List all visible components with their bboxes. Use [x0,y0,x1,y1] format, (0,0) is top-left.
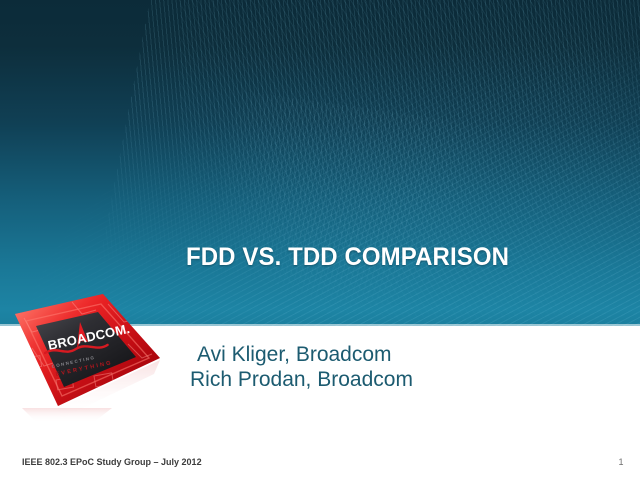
presentation-slide: FDD VS. TDD COMPARISON Avi Kliger, Broad… [0,0,640,480]
moire-sweep-d-decoration [205,90,535,326]
moire-sweep-a-decoration [80,0,640,326]
footer-meeting-label: IEEE 802.3 EPoC Study Group – July 2012 [22,457,202,467]
broadcom-chip-logo: BROADCOM. CONNECTING EVERYTHING [2,288,164,428]
footer-page-number: 1 [612,457,630,467]
slide-subtitle: Avi Kliger, Broadcom Rich Prodan, Broadc… [190,342,413,392]
slide-title: FDD VS. TDD COMPARISON [186,243,509,272]
title-banner [0,0,640,326]
subtitle-line-author-1: Avi Kliger, Broadcom [190,342,413,367]
moire-sweep-c-decoration [180,0,640,326]
moire-sweep-b-decoration [0,8,640,326]
subtitle-line-author-2: Rich Prodan, Broadcom [190,367,413,392]
